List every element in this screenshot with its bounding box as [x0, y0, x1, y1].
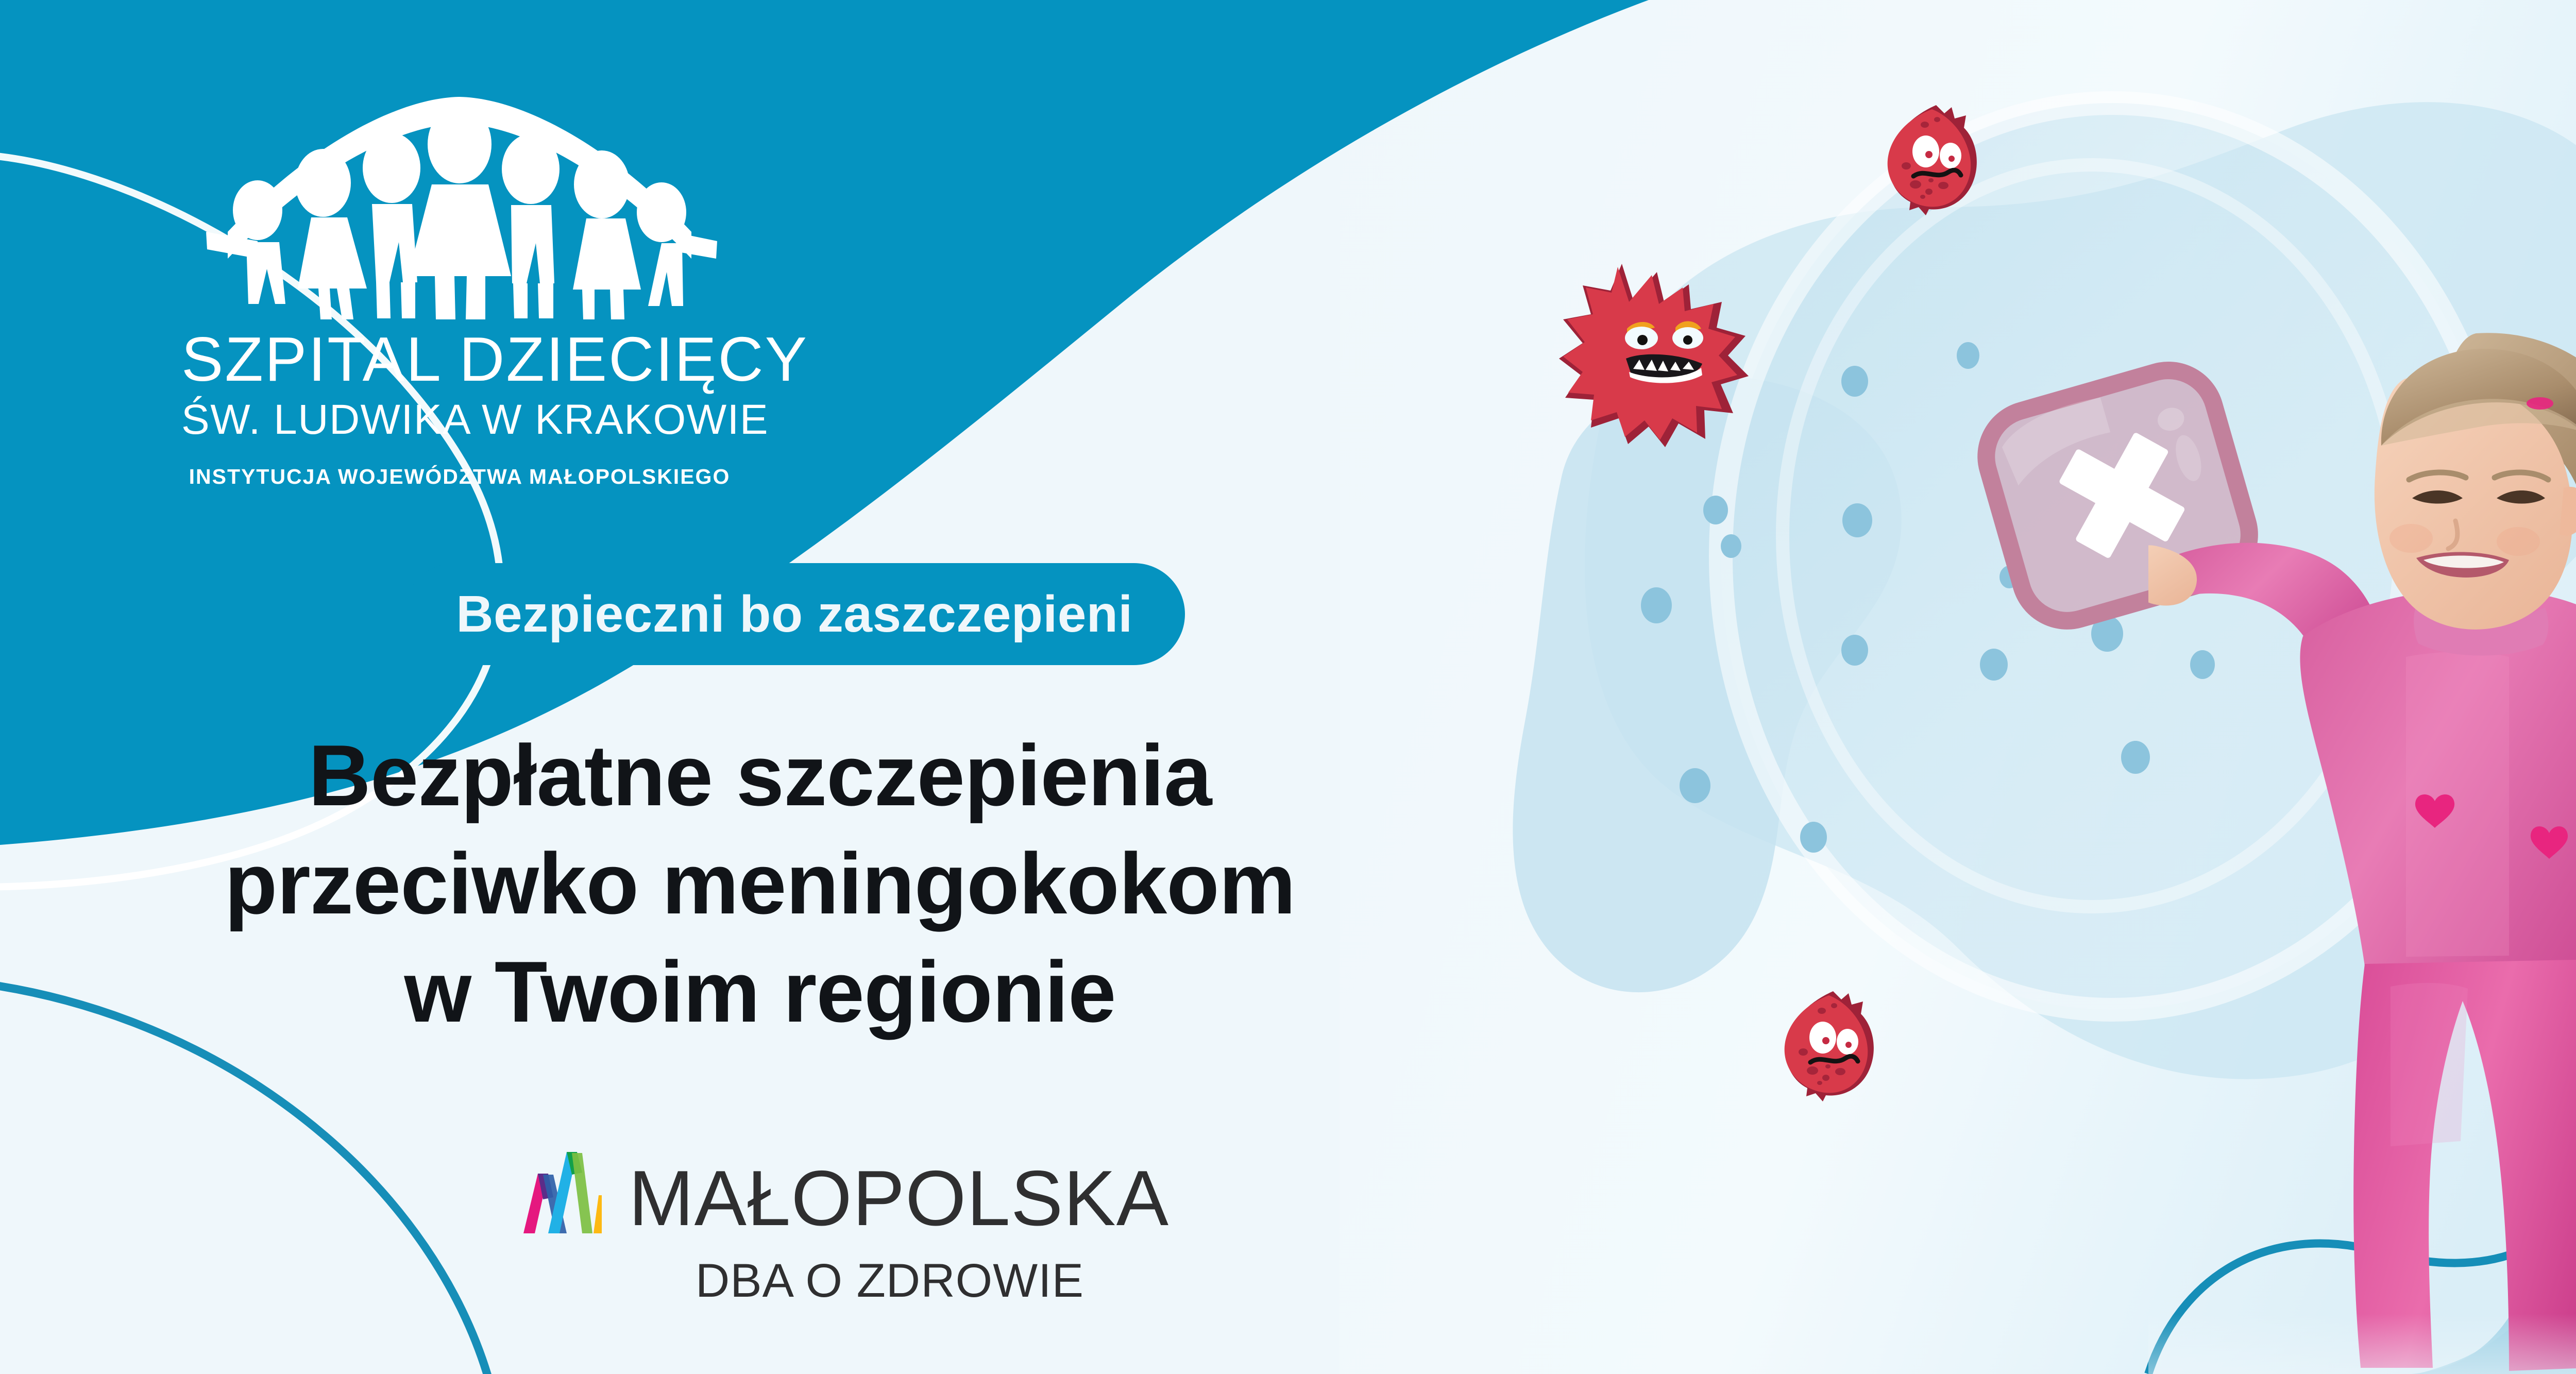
hospital-logo: SZPITAL DZIECIĘCY ŚW. LUDWIKA W KRAKOWIE… [181, 77, 738, 488]
photo-bottom-fade [2148, 1121, 2576, 1374]
angry-germ-icon [1556, 252, 1752, 448]
campaign-badge-label: Bezpieczni bo zaszczepieni [456, 585, 1132, 644]
hospital-logo-line2: ŚW. LUDWIKA W KRAKOWIE [181, 398, 738, 442]
headline-line-2: przeciwko meningokokom [129, 829, 1391, 938]
campaign-badge: Bezpieczni bo zaszczepieni [404, 563, 1185, 665]
child-right-cheek [2497, 527, 2540, 556]
children-holding-hands-icon [197, 77, 722, 325]
sad-germ-icon [1772, 984, 1891, 1102]
malopolska-tagline: DBA O ZDROWIE [510, 1254, 1087, 1308]
campaign-banner: SZPITAL DZIECIĘCY ŚW. LUDWIKA W KRAKOWIE… [0, 0, 2576, 1374]
hospital-logo-line3: INSTYTUCJA WOJEWÓDZTWA MAŁOPOLSKIEGO [181, 466, 738, 488]
malopolska-logo: MAŁOPOLSKA DBA O ZDROWIE [510, 1139, 1087, 1308]
child-pushing-away-germs-photo [2148, 296, 2576, 1374]
headline-line-1: Bezpłatne szczepienia [129, 721, 1391, 829]
page-title: Bezpłatne szczepienia przeciwko meningok… [129, 721, 1391, 1046]
malopolska-wordmark: MAŁOPOLSKA [629, 1159, 1169, 1237]
child-left-cheek [2389, 524, 2433, 553]
hospital-logo-line1: SZPITAL DZIECIĘCY [181, 328, 738, 391]
malopolska-mountains-mark [510, 1142, 608, 1240]
sad-germ-icon [1875, 98, 1994, 216]
child-hair-clip [2527, 397, 2553, 410]
headline-line-3: w Twoim regionie [129, 938, 1391, 1046]
